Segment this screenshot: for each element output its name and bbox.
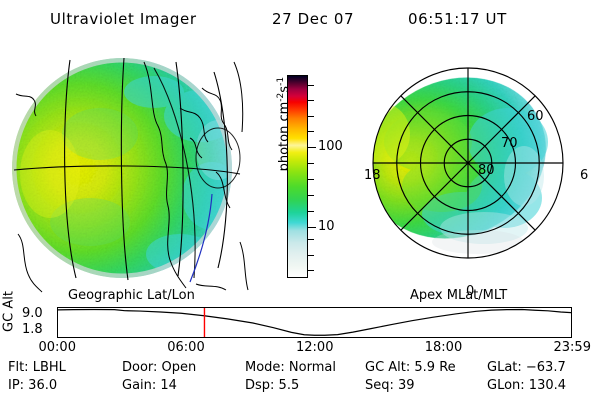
observation-date: 27 Dec 07 xyxy=(272,10,354,28)
header-bar: Ultraviolet Imager 27 Dec 07 06:51:17 UT xyxy=(0,6,600,32)
colorbar-minor-tick xyxy=(308,131,314,132)
status-glat: GLat: −63.7 xyxy=(487,360,566,375)
apex-mlat-label: 60 xyxy=(527,109,544,124)
colorbar-minor-tick xyxy=(308,100,314,101)
page-title: Ultraviolet Imager xyxy=(50,10,197,28)
colorbar-scale[interactable] xyxy=(287,75,308,278)
time-tick-label: 12:00 xyxy=(296,340,333,355)
geographic-panel-caption: Geographic Lat/Lon xyxy=(68,288,195,303)
apex-mlat-label: 80 xyxy=(478,163,495,178)
colorbar-minor-tick xyxy=(308,239,314,240)
colorbar-minor-tick xyxy=(308,85,314,86)
colorbar-minor-tick xyxy=(308,116,314,117)
status-gain: Gain: 14 xyxy=(122,378,177,393)
observation-time: 06:51:17 UT xyxy=(408,10,507,28)
apex-dial-grid xyxy=(373,68,563,258)
status-flt: Flt: LBHL xyxy=(8,360,66,375)
altitude-axis-name: GC Alt xyxy=(2,290,17,334)
time-tick-label: 18:00 xyxy=(425,340,462,355)
colorbar-minor-tick xyxy=(308,163,314,164)
colorbar-major-tick xyxy=(308,147,316,148)
altitude-tick-high: 9.0 xyxy=(22,306,43,321)
colorbar-gradient xyxy=(288,76,307,277)
time-tick-label: 06:00 xyxy=(167,340,204,355)
status-door: Door: Open xyxy=(122,360,196,375)
geographic-image-panel[interactable] xyxy=(4,46,262,294)
apex-mlat-label: 70 xyxy=(501,136,518,151)
status-dsp: Dsp: 5.5 xyxy=(245,378,299,393)
colorbar-minor-tick xyxy=(308,270,314,271)
colorbar-minor-tick xyxy=(308,179,314,180)
time-tick-label: 23:59 xyxy=(554,340,591,355)
status-gc-alt: GC Alt: 5.9 Re xyxy=(365,360,456,375)
apex-mlt-label: 6 xyxy=(580,168,588,183)
status-glon: GLon: 130.4 xyxy=(487,378,566,393)
status-readout: Flt: LBHL IP: 36.0 Door: Open Gain: 14 M… xyxy=(0,360,600,400)
colorbar-minor-tick xyxy=(308,195,314,196)
apex-polar-panel[interactable]: 121860607080 xyxy=(358,46,600,294)
status-seq: Seq: 39 xyxy=(365,378,415,393)
status-mode: Mode: Normal xyxy=(245,360,336,375)
colorbar-tick-label: 10 xyxy=(318,220,335,233)
colorbar-minor-tick xyxy=(308,211,314,212)
altitude-tick-low: 1.8 xyxy=(22,322,43,337)
orbit-altitude-strip[interactable]: Geographic Lat/Lon Apex MLat/MLT GC Alt … xyxy=(0,288,600,356)
colorbar-major-tick xyxy=(308,227,316,228)
colorbar-panel: photon cm-2s-1 10010 xyxy=(258,60,370,292)
geographic-globe-plot xyxy=(4,46,262,294)
altitude-trace xyxy=(58,308,571,337)
apex-panel-caption: Apex MLat/MLT xyxy=(410,288,507,303)
colorbar-minor-tick xyxy=(308,255,314,256)
time-tick-label: 00:00 xyxy=(39,340,76,355)
status-ip: IP: 36.0 xyxy=(8,378,57,393)
apex-mlt-label: 18 xyxy=(364,168,381,183)
colorbar-tick-label: 100 xyxy=(318,140,343,153)
altitude-plot-box[interactable] xyxy=(57,307,572,338)
